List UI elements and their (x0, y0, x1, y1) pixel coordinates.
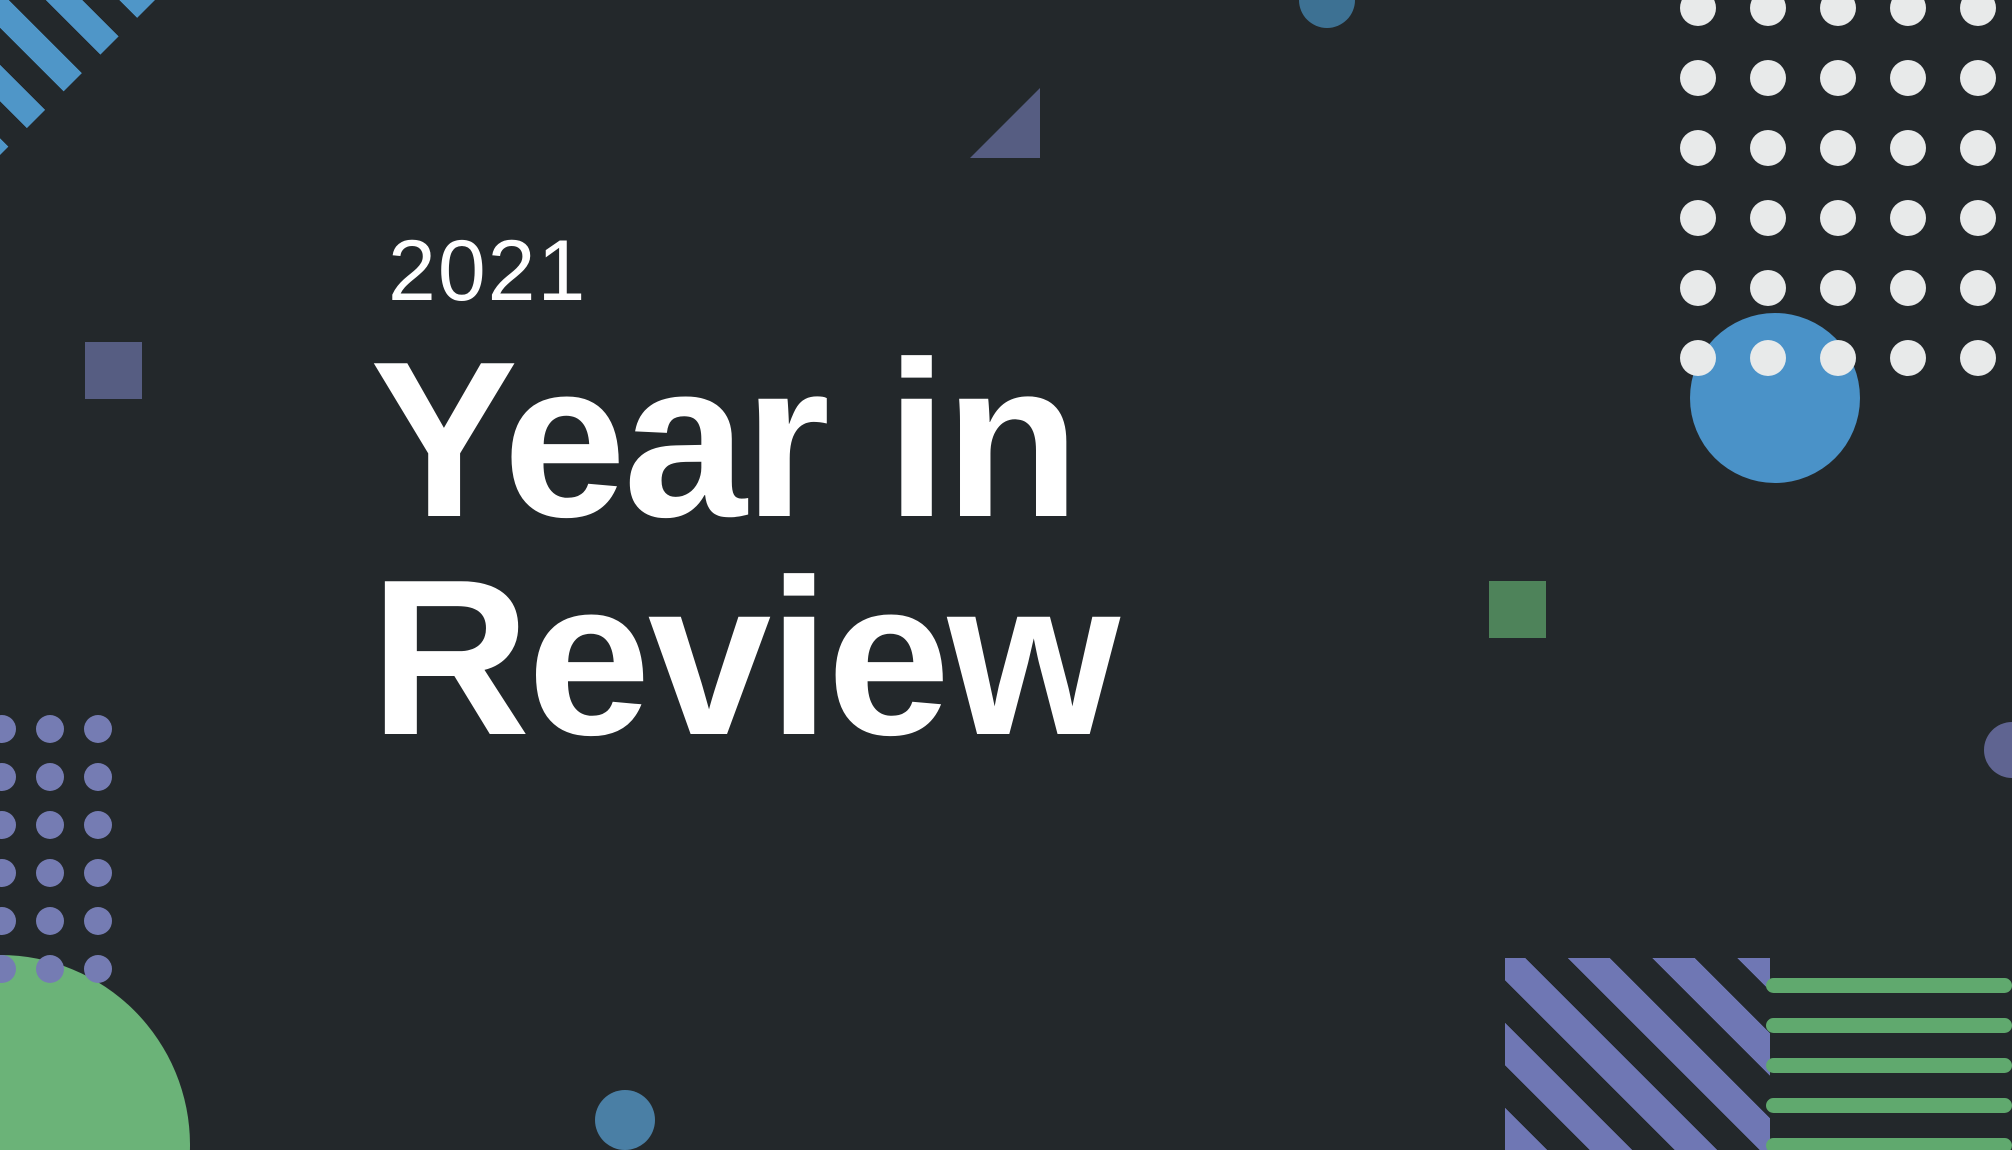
blue-diagonal-stripes (0, 0, 165, 165)
purple-square (85, 342, 142, 399)
grid-dot (1890, 130, 1926, 166)
grid-dot (0, 907, 16, 935)
grid-dot (1680, 340, 1716, 376)
purple-triangle (970, 88, 1040, 158)
grid-dot (1960, 130, 1996, 166)
grid-dot (1680, 270, 1716, 306)
title-block: 2021 Year in Review (370, 228, 1370, 767)
grid-dot (0, 811, 16, 839)
grid-dot (1750, 60, 1786, 96)
grid-dot (1960, 200, 1996, 236)
purple-stripe-block (1505, 958, 1770, 1150)
grid-dot (84, 907, 112, 935)
grid-dot (84, 859, 112, 887)
grid-dot (1680, 60, 1716, 96)
grid-dot (36, 715, 64, 743)
grid-dot (36, 763, 64, 791)
grid-dot (1960, 270, 1996, 306)
grid-dot (36, 907, 64, 935)
green-quarter-disc (0, 955, 190, 1150)
green-bar (1766, 1058, 2012, 1073)
green-bar (1766, 1138, 2012, 1150)
grid-dot (84, 715, 112, 743)
grid-dot (1820, 0, 1856, 26)
grid-dot (1680, 0, 1716, 26)
green-bar (1766, 978, 2012, 993)
grid-dot (1750, 270, 1786, 306)
grid-dot (1750, 200, 1786, 236)
small-blue-circle-top (1299, 0, 1355, 28)
grid-dot (1820, 200, 1856, 236)
grid-dot (1820, 270, 1856, 306)
grid-dot (1820, 130, 1856, 166)
grid-dot (0, 715, 16, 743)
grid-dot (1890, 60, 1926, 96)
grid-dot (36, 859, 64, 887)
green-bar (1766, 1018, 2012, 1033)
grid-dot (0, 955, 16, 983)
grid-dot (0, 763, 16, 791)
grid-dot (36, 955, 64, 983)
grid-dot (1820, 60, 1856, 96)
grid-dot (1960, 0, 1996, 26)
green-bar (1766, 1098, 2012, 1113)
grid-dot (84, 955, 112, 983)
grid-dot (1890, 200, 1926, 236)
grid-dot (1890, 270, 1926, 306)
slide-canvas: 2021 Year in Review (0, 0, 2012, 1150)
grid-dot (84, 763, 112, 791)
year-label: 2021 (388, 228, 1370, 314)
purple-dot-grid (0, 715, 118, 1015)
grid-dot (1960, 340, 1996, 376)
purple-circle-right (1984, 722, 2012, 778)
grid-dot (1750, 340, 1786, 376)
grid-dot (84, 811, 112, 839)
page-title: Year in Review (370, 332, 1370, 767)
green-square (1489, 581, 1546, 638)
large-blue-circle (1690, 313, 1860, 483)
grid-dot (1890, 340, 1926, 376)
grid-dot (0, 859, 16, 887)
grid-dot (1960, 60, 1996, 96)
grid-dot (1750, 0, 1786, 26)
grid-dot (1680, 200, 1716, 236)
grid-dot (36, 811, 64, 839)
grid-dot (1750, 130, 1786, 166)
grid-dot (1680, 130, 1716, 166)
white-dot-grid (1680, 0, 2012, 410)
grid-dot (1890, 0, 1926, 26)
small-blue-circle-bottom (595, 1090, 655, 1150)
grid-dot (1820, 340, 1856, 376)
